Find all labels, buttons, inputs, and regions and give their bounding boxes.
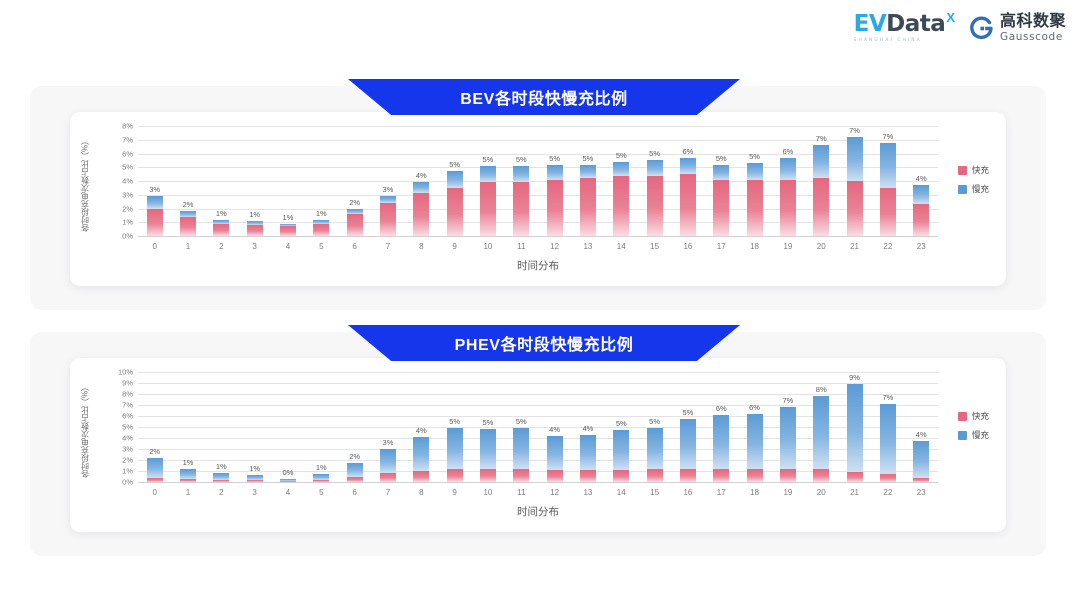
phev-stacked-bar[interactable]: [613, 430, 629, 482]
phev-bar-value-label: 4%: [583, 424, 594, 433]
phev-fast-charge-segment: [280, 481, 296, 482]
bev-slow-charge-segment: [413, 182, 429, 193]
bev-slow-charge-segment: [580, 165, 596, 179]
bev-bar-value-label: 7%: [816, 134, 827, 143]
phev-x-tick: 10: [471, 488, 504, 497]
phev-bar-column[interactable]: 5%: [605, 372, 638, 482]
phev-bar-value-label: 7%: [782, 396, 793, 405]
phev-bar-column[interactable]: 6%: [705, 372, 738, 482]
bev-legend-fast[interactable]: 快充: [958, 164, 989, 176]
bev-fast-charge-segment: [913, 204, 929, 236]
gausscode-name-en: Gausscode: [1000, 32, 1066, 43]
phev-stacked-bar[interactable]: [313, 474, 329, 482]
phev-legend-fast-label: 快充: [972, 410, 989, 422]
bev-fast-charge-segment: [480, 182, 496, 236]
bev-fast-charge-segment: [447, 188, 463, 236]
phev-bar-value-label: 1%: [316, 463, 327, 472]
bev-y-tick: 7%: [122, 135, 133, 144]
bev-bar-value-label: 5%: [449, 160, 460, 169]
bev-fast-charge-segment: [647, 176, 663, 237]
bev-fast-charge-segment: [813, 178, 829, 236]
phev-bar-value-label: 3%: [383, 438, 394, 447]
bev-stacked-bar[interactable]: [547, 165, 563, 237]
phev-bar-value-label: 5%: [649, 417, 660, 426]
phev-stacked-bar[interactable]: [847, 384, 863, 482]
phev-stacked-bar[interactable]: [213, 473, 229, 482]
bev-y-axis-label: 各时段充电次数占比（%）: [78, 124, 92, 244]
bev-x-tick: 23: [905, 242, 938, 251]
phev-fast-charge-segment: [413, 471, 429, 482]
phev-bar-column[interactable]: 0%: [271, 372, 304, 482]
phev-fast-charge-segment: [513, 469, 529, 482]
phev-y-axis-label: 各时段充电次数占比（%）: [78, 370, 92, 490]
phev-legend-slow-swatch: [958, 431, 967, 440]
phev-y-tick: 7%: [122, 401, 133, 410]
bev-slow-charge-segment: [847, 137, 863, 181]
phev-x-tick: 0: [138, 488, 171, 497]
bev-bar-value-label: 7%: [882, 132, 893, 141]
bev-fast-charge-segment: [213, 224, 229, 236]
phev-slow-charge-segment: [213, 473, 229, 480]
bev-bar-value-label: 5%: [516, 155, 527, 164]
phev-x-tick-row: 01234567891011121314151617181920212223: [138, 488, 938, 497]
phev-bar-column[interactable]: 1%: [238, 372, 271, 482]
bev-bar-column[interactable]: 1%: [238, 126, 271, 236]
phev-fast-charge-segment: [780, 469, 796, 482]
phev-bar-column[interactable]: 1%: [205, 372, 238, 482]
bev-fast-charge-segment: [880, 188, 896, 236]
phev-stacked-bar[interactable]: [180, 469, 196, 482]
bev-stacked-bar[interactable]: [180, 211, 196, 236]
bev-x-tick: 18: [738, 242, 771, 251]
bev-fast-charge-segment: [147, 209, 163, 237]
bev-x-tick: 14: [605, 242, 638, 251]
phev-x-tick: 23: [905, 488, 938, 497]
bev-stacked-bar[interactable]: [513, 166, 529, 236]
bev-slow-charge-segment: [480, 166, 496, 183]
bev-bar-column[interactable]: 5%: [738, 126, 771, 236]
bev-fast-charge-segment: [413, 193, 429, 236]
gausscode-mark-icon: [969, 16, 994, 41]
bev-y-tick: 0%: [122, 232, 133, 241]
phev-legend: 快充 慢充: [958, 410, 989, 441]
phev-bar-column[interactable]: 3%: [371, 372, 404, 482]
bev-legend-slow[interactable]: 慢充: [958, 183, 989, 195]
phev-bar-value-label: 5%: [682, 408, 693, 417]
logo-group: EV Data X SHANGHAI CHINA 高科数聚 Gausscode: [854, 13, 1066, 43]
bev-x-tick: 0: [138, 242, 171, 251]
phev-fast-charge-segment: [913, 478, 929, 482]
phev-fast-charge-segment: [147, 478, 163, 482]
phev-y-tick: 3%: [122, 445, 133, 454]
bev-bar-column[interactable]: 7%: [805, 126, 838, 236]
phev-bar-column[interactable]: 8%: [805, 372, 838, 482]
phev-bar-group: 2%1%1%1%0%1%2%3%4%5%5%5%4%4%5%5%5%6%6%7%…: [138, 372, 938, 482]
phev-bar-column[interactable]: 4%: [571, 372, 604, 482]
phev-bar-column[interactable]: 4%: [905, 372, 938, 482]
bev-bar-column[interactable]: 7%: [838, 126, 871, 236]
phev-y-tick: 6%: [122, 412, 133, 421]
bev-panel: 各时段充电次数占比（%） 0%1%2%3%4%5%6%7%8%3%2%1%1%1…: [30, 86, 1046, 310]
phev-stacked-bar[interactable]: [380, 449, 396, 482]
phev-legend-slow-label: 慢充: [972, 429, 989, 441]
bev-stacked-bar[interactable]: [280, 224, 296, 236]
bev-stacked-bar[interactable]: [747, 163, 763, 236]
phev-y-tick: 10%: [118, 368, 133, 377]
phev-bar-value-label: 5%: [449, 417, 460, 426]
bev-x-tick: 9: [438, 242, 471, 251]
phev-bar-column[interactable]: 5%: [638, 372, 671, 482]
phev-x-tick: 11: [505, 488, 538, 497]
phev-bar-column[interactable]: 4%: [405, 372, 438, 482]
bev-x-tick: 7: [371, 242, 404, 251]
bev-x-tick: 15: [638, 242, 671, 251]
bev-bar-column[interactable]: 2%: [171, 126, 204, 236]
phev-slow-charge-segment: [747, 414, 763, 469]
phev-slow-charge-segment: [547, 436, 563, 470]
bev-slow-charge-segment: [380, 196, 396, 203]
phev-stacked-bar[interactable]: [913, 441, 929, 482]
bev-legend-fast-swatch: [958, 166, 967, 175]
bev-bar-column[interactable]: 4%: [405, 126, 438, 236]
phev-x-tick: 6: [338, 488, 371, 497]
phev-stacked-bar[interactable]: [647, 428, 663, 482]
bev-bar-value-label: 5%: [649, 149, 660, 158]
phev-legend-fast[interactable]: 快充: [958, 410, 989, 422]
bev-bar-column[interactable]: 3%: [371, 126, 404, 236]
phev-bar-column[interactable]: 5%: [438, 372, 471, 482]
bev-slow-charge-segment: [613, 162, 629, 176]
phev-slow-charge-segment: [780, 407, 796, 469]
phev-bar-value-label: 5%: [616, 419, 627, 428]
phev-y-tick: 5%: [122, 423, 133, 432]
phev-stacked-bar[interactable]: [413, 437, 429, 482]
phev-plot-area: 0%1%2%3%4%5%6%7%8%9%10%2%1%1%1%0%1%2%3%4…: [138, 372, 938, 482]
phev-x-tick: 18: [738, 488, 771, 497]
bev-bar-value-label: 5%: [483, 155, 494, 164]
bev-x-tick: 20: [805, 242, 838, 251]
phev-y-tick: 8%: [122, 390, 133, 399]
phev-fast-charge-segment: [880, 474, 896, 482]
phev-bar-value-label: 5%: [483, 418, 494, 427]
phev-gridline: [138, 482, 938, 483]
bev-x-tick: 13: [571, 242, 604, 251]
bev-x-tick: 17: [705, 242, 738, 251]
phev-y-tick: 2%: [122, 456, 133, 465]
phev-fast-charge-segment: [480, 469, 496, 482]
bev-slow-charge-segment: [447, 171, 463, 188]
phev-stacked-bar[interactable]: [880, 404, 896, 482]
phev-slow-charge-segment: [380, 449, 396, 473]
bev-stacked-bar[interactable]: [813, 145, 829, 236]
bev-gridline: [138, 236, 938, 237]
phev-slow-charge-segment: [680, 419, 696, 469]
phev-bar-column[interactable]: 7%: [871, 372, 904, 482]
bev-bar-column[interactable]: 7%: [871, 126, 904, 236]
phev-slow-charge-segment: [813, 396, 829, 469]
phev-bar-column[interactable]: 6%: [738, 372, 771, 482]
bev-x-tick: 16: [671, 242, 704, 251]
bev-fast-charge-segment: [180, 217, 196, 236]
bev-stacked-bar[interactable]: [213, 220, 229, 237]
bev-x-tick: 11: [505, 242, 538, 251]
phev-slow-charge-segment: [613, 430, 629, 470]
phev-chart-card: 各时段充电次数占比（%） 0%1%2%3%4%5%6%7%8%9%10%2%1%…: [70, 358, 1006, 532]
phev-slow-charge-segment: [913, 441, 929, 477]
bev-slow-charge-segment: [713, 165, 729, 180]
bev-bar-value-label: 6%: [782, 147, 793, 156]
phev-legend-fast-swatch: [958, 412, 967, 421]
bev-bar-column[interactable]: 4%: [905, 126, 938, 236]
phev-bar-value-label: 7%: [882, 393, 893, 402]
bev-bar-column[interactable]: 2%: [338, 126, 371, 236]
bev-x-tick: 10: [471, 242, 504, 251]
phev-x-tick: 7: [371, 488, 404, 497]
bev-slow-charge-segment: [780, 158, 796, 180]
phev-y-tick: 4%: [122, 434, 133, 443]
bev-stacked-bar[interactable]: [380, 196, 396, 236]
bev-title-ribbon: BEV各时段快慢充比例: [348, 79, 740, 115]
bev-bar-column[interactable]: 5%: [538, 126, 571, 236]
phev-fast-charge-segment: [713, 469, 729, 482]
bev-fast-charge-segment: [280, 226, 296, 236]
bev-legend-fast-label: 快充: [972, 164, 989, 176]
phev-slow-charge-segment: [513, 428, 529, 469]
bev-slow-charge-segment: [547, 165, 563, 180]
phev-y-tick: 9%: [122, 379, 133, 388]
phev-slow-charge-segment: [347, 463, 363, 476]
bev-x-tick: 6: [338, 242, 371, 251]
phev-x-tick: 12: [538, 488, 571, 497]
gausscode-name-cn: 高科数聚: [1000, 14, 1066, 30]
phev-slow-charge-segment: [880, 404, 896, 474]
bev-bar-column[interactable]: 5%: [438, 126, 471, 236]
phev-stacked-bar[interactable]: [480, 429, 496, 482]
phev-y-tick: 1%: [122, 467, 133, 476]
phev-fast-charge-segment: [447, 469, 463, 482]
bev-bar-column[interactable]: 3%: [138, 126, 171, 236]
bev-x-axis-label: 时间分布: [70, 258, 1006, 273]
phev-x-tick: 8: [405, 488, 438, 497]
bev-fast-charge-segment: [680, 174, 696, 236]
phev-bar-value-label: 6%: [716, 404, 727, 413]
phev-x-tick: 14: [605, 488, 638, 497]
phev-x-tick: 19: [771, 488, 804, 497]
phev-stacked-bar[interactable]: [347, 463, 363, 482]
bev-bar-column[interactable]: 5%: [505, 126, 538, 236]
bev-bar-value-label: 1%: [216, 209, 227, 218]
phev-slow-charge-segment: [447, 428, 463, 469]
phev-x-tick: 20: [805, 488, 838, 497]
bev-y-tick: 1%: [122, 218, 133, 227]
bev-stacked-bar[interactable]: [447, 171, 463, 236]
bev-legend-slow-label: 慢充: [972, 183, 989, 195]
bev-bar-value-label: 5%: [716, 154, 727, 163]
bev-bar-column[interactable]: 5%: [705, 126, 738, 236]
phev-stacked-bar[interactable]: [713, 415, 729, 482]
phev-bar-value-label: 8%: [816, 385, 827, 394]
bev-stacked-bar[interactable]: [713, 165, 729, 237]
phev-bar-value-label: 2%: [349, 452, 360, 461]
phev-slow-charge-segment: [180, 469, 196, 479]
bev-x-tick: 3: [238, 242, 271, 251]
phev-x-tick: 16: [671, 488, 704, 497]
bev-bar-column[interactable]: 1%: [305, 126, 338, 236]
phev-bar-column[interactable]: 5%: [671, 372, 704, 482]
bev-y-tick: 6%: [122, 149, 133, 158]
phev-x-tick: 4: [271, 488, 304, 497]
phev-x-tick: 5: [305, 488, 338, 497]
bev-stacked-bar[interactable]: [913, 185, 929, 236]
gausscode-logo: 高科数聚 Gausscode: [969, 14, 1066, 43]
phev-fast-charge-segment: [613, 470, 629, 482]
phev-stacked-bar[interactable]: [747, 414, 763, 482]
bev-fast-charge-segment: [713, 180, 729, 236]
phev-bar-column[interactable]: 2%: [338, 372, 371, 482]
evdata-logo-ev: EV: [854, 13, 887, 36]
bev-stacked-bar[interactable]: [480, 166, 496, 236]
bev-bar-value-label: 5%: [616, 151, 627, 160]
bev-stacked-bar[interactable]: [313, 220, 329, 237]
phev-x-tick: 1: [171, 488, 204, 497]
phev-x-tick: 13: [571, 488, 604, 497]
phev-bar-value-label: 4%: [916, 430, 927, 439]
phev-x-tick: 3: [238, 488, 271, 497]
bev-bar-column[interactable]: 1%: [205, 126, 238, 236]
bev-stacked-bar[interactable]: [347, 209, 363, 237]
bev-bar-value-label: 2%: [349, 198, 360, 207]
phev-x-tick: 9: [438, 488, 471, 497]
bev-y-tick: 5%: [122, 163, 133, 172]
bev-stacked-bar[interactable]: [780, 158, 796, 236]
phev-fast-charge-segment: [380, 473, 396, 482]
phev-bar-column[interactable]: 2%: [138, 372, 171, 482]
phev-stacked-bar[interactable]: [147, 458, 163, 482]
phev-bar-value-label: 2%: [149, 447, 160, 456]
evdata-logo-superscript: X: [946, 11, 955, 24]
phev-bar-column[interactable]: 1%: [305, 372, 338, 482]
bev-bar-value-label: 1%: [283, 213, 294, 222]
bev-bar-column[interactable]: 1%: [271, 126, 304, 236]
phev-bar-column[interactable]: 5%: [471, 372, 504, 482]
bev-legend: 快充 慢充: [958, 164, 989, 195]
bev-x-tick: 8: [405, 242, 438, 251]
phev-stacked-bar[interactable]: [547, 436, 563, 482]
phev-stacked-bar[interactable]: [580, 435, 596, 482]
bev-stacked-bar[interactable]: [580, 165, 596, 237]
bev-fast-charge-segment: [247, 225, 263, 236]
bev-chart: 各时段充电次数占比（%） 0%1%2%3%4%5%6%7%8%3%2%1%1%1…: [70, 112, 1006, 286]
bev-slow-charge-segment: [747, 163, 763, 180]
phev-bar-column[interactable]: 9%: [838, 372, 871, 482]
bev-stacked-bar[interactable]: [247, 221, 263, 236]
phev-stacked-bar[interactable]: [513, 428, 529, 482]
phev-stacked-bar[interactable]: [247, 475, 263, 482]
phev-bar-value-label: 9%: [849, 373, 860, 382]
bev-bar-column[interactable]: 5%: [471, 126, 504, 236]
bev-fast-charge-segment: [547, 180, 563, 236]
bev-bar-value-label: 3%: [149, 185, 160, 194]
phev-bar-value-label: 5%: [516, 417, 527, 426]
phev-bar-column[interactable]: 1%: [171, 372, 204, 482]
bev-bar-value-label: 3%: [383, 185, 394, 194]
bev-bar-value-label: 5%: [549, 154, 560, 163]
bev-slow-charge-segment: [147, 196, 163, 208]
bev-fast-charge-segment: [613, 176, 629, 237]
phev-slow-charge-segment: [713, 415, 729, 469]
bev-fast-charge-segment: [580, 178, 596, 236]
phev-fast-charge-segment: [247, 480, 263, 482]
bev-y-tick: 8%: [122, 122, 133, 131]
phev-stacked-bar[interactable]: [813, 396, 829, 482]
phev-stacked-bar[interactable]: [680, 419, 696, 482]
phev-y-tick: 0%: [122, 478, 133, 487]
bev-stacked-bar[interactable]: [647, 160, 663, 236]
phev-x-tick: 15: [638, 488, 671, 497]
bev-stacked-bar[interactable]: [613, 162, 629, 236]
phev-stacked-bar[interactable]: [447, 428, 463, 482]
phev-fast-charge-segment: [813, 469, 829, 482]
bev-bar-group: 3%2%1%1%1%1%2%3%4%5%5%5%5%5%5%5%6%5%5%6%…: [138, 126, 938, 236]
phev-bar-value-label: 6%: [749, 403, 760, 412]
bev-fast-charge-segment: [313, 224, 329, 236]
bev-stacked-bar[interactable]: [413, 182, 429, 236]
phev-slow-charge-segment: [147, 458, 163, 478]
bev-x-tick-row: 01234567891011121314151617181920212223: [138, 242, 938, 251]
phev-bar-column[interactable]: 5%: [505, 372, 538, 482]
phev-slow-charge-segment: [580, 435, 596, 470]
bev-bar-column[interactable]: 5%: [638, 126, 671, 236]
bev-bar-column[interactable]: 5%: [571, 126, 604, 236]
bev-x-tick: 22: [871, 242, 904, 251]
phev-fast-charge-segment: [580, 470, 596, 482]
bev-bar-value-label: 4%: [916, 174, 927, 183]
evdata-logo-tagline: SHANGHAI CHINA: [854, 38, 922, 43]
bev-slow-charge-segment: [680, 158, 696, 175]
phev-slow-charge-segment: [480, 429, 496, 469]
bev-x-tick: 1: [171, 242, 204, 251]
phev-bar-column[interactable]: 4%: [538, 372, 571, 482]
bev-stacked-bar[interactable]: [680, 158, 696, 236]
bev-bar-column[interactable]: 6%: [771, 126, 804, 236]
gausscode-text: 高科数聚 Gausscode: [1000, 14, 1066, 43]
bev-fast-charge-segment: [747, 180, 763, 236]
bev-x-tick: 19: [771, 242, 804, 251]
bev-fast-charge-segment: [780, 180, 796, 236]
phev-stacked-bar[interactable]: [780, 407, 796, 482]
bev-stacked-bar[interactable]: [880, 143, 896, 237]
phev-fast-charge-segment: [847, 472, 863, 482]
phev-panel: 各时段充电次数占比（%） 0%1%2%3%4%5%6%7%8%9%10%2%1%…: [30, 332, 1046, 556]
bev-y-tick: 3%: [122, 190, 133, 199]
bev-stacked-bar[interactable]: [847, 137, 863, 236]
phev-legend-slow[interactable]: 慢充: [958, 429, 989, 441]
phev-bar-column[interactable]: 7%: [771, 372, 804, 482]
bev-bar-column[interactable]: 6%: [671, 126, 704, 236]
phev-bar-value-label: 4%: [549, 425, 560, 434]
phev-x-tick: 17: [705, 488, 738, 497]
bev-x-tick: 5: [305, 242, 338, 251]
bev-bar-column[interactable]: 5%: [605, 126, 638, 236]
phev-stacked-bar[interactable]: [280, 479, 296, 482]
bev-fast-charge-segment: [347, 214, 363, 236]
bev-x-tick: 12: [538, 242, 571, 251]
phev-fast-charge-segment: [547, 470, 563, 482]
bev-y-tick: 4%: [122, 177, 133, 186]
bev-stacked-bar[interactable]: [147, 196, 163, 236]
phev-x-tick: 2: [205, 488, 238, 497]
bev-bar-value-label: 5%: [583, 154, 594, 163]
